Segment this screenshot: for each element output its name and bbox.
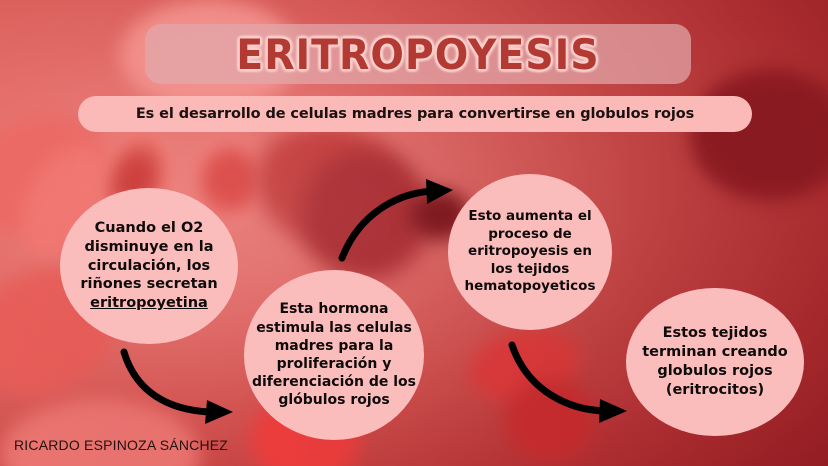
subtitle-text: Es el desarrollo de celulas madres para … [136,106,694,122]
step-node-2-text: Esta hormonaestimula las celulasmadres p… [252,300,416,409]
step-node-4-text: Estos tejidosterminan creandoglobulos ro… [642,324,788,399]
step-node-1[interactable]: Cuando el O2disminuye en lacirculación, … [60,188,238,344]
step-node-4[interactable]: Estos tejidosterminan creandoglobulos ro… [626,288,804,436]
page-title: ERITROPOYESIS [161,24,674,84]
step-node-3[interactable]: Esto aumenta elproceso deeritropoyesis e… [448,174,612,330]
author-credit: RICARDO ESPINOZA SÁNCHEZ [14,437,228,453]
step-node-2[interactable]: Esta hormonaestimula las celulasmadres p… [244,270,424,440]
subtitle-pill: Es el desarrollo de celulas madres para … [78,96,752,132]
step-node-3-text: Esto aumenta elproceso deeritropoyesis e… [465,208,596,296]
step-node-1-text: Cuando el O2disminuye en lacirculación, … [80,219,217,313]
infographic-poster: ERITROPOYESIS Es el desarrollo de celula… [0,0,828,466]
